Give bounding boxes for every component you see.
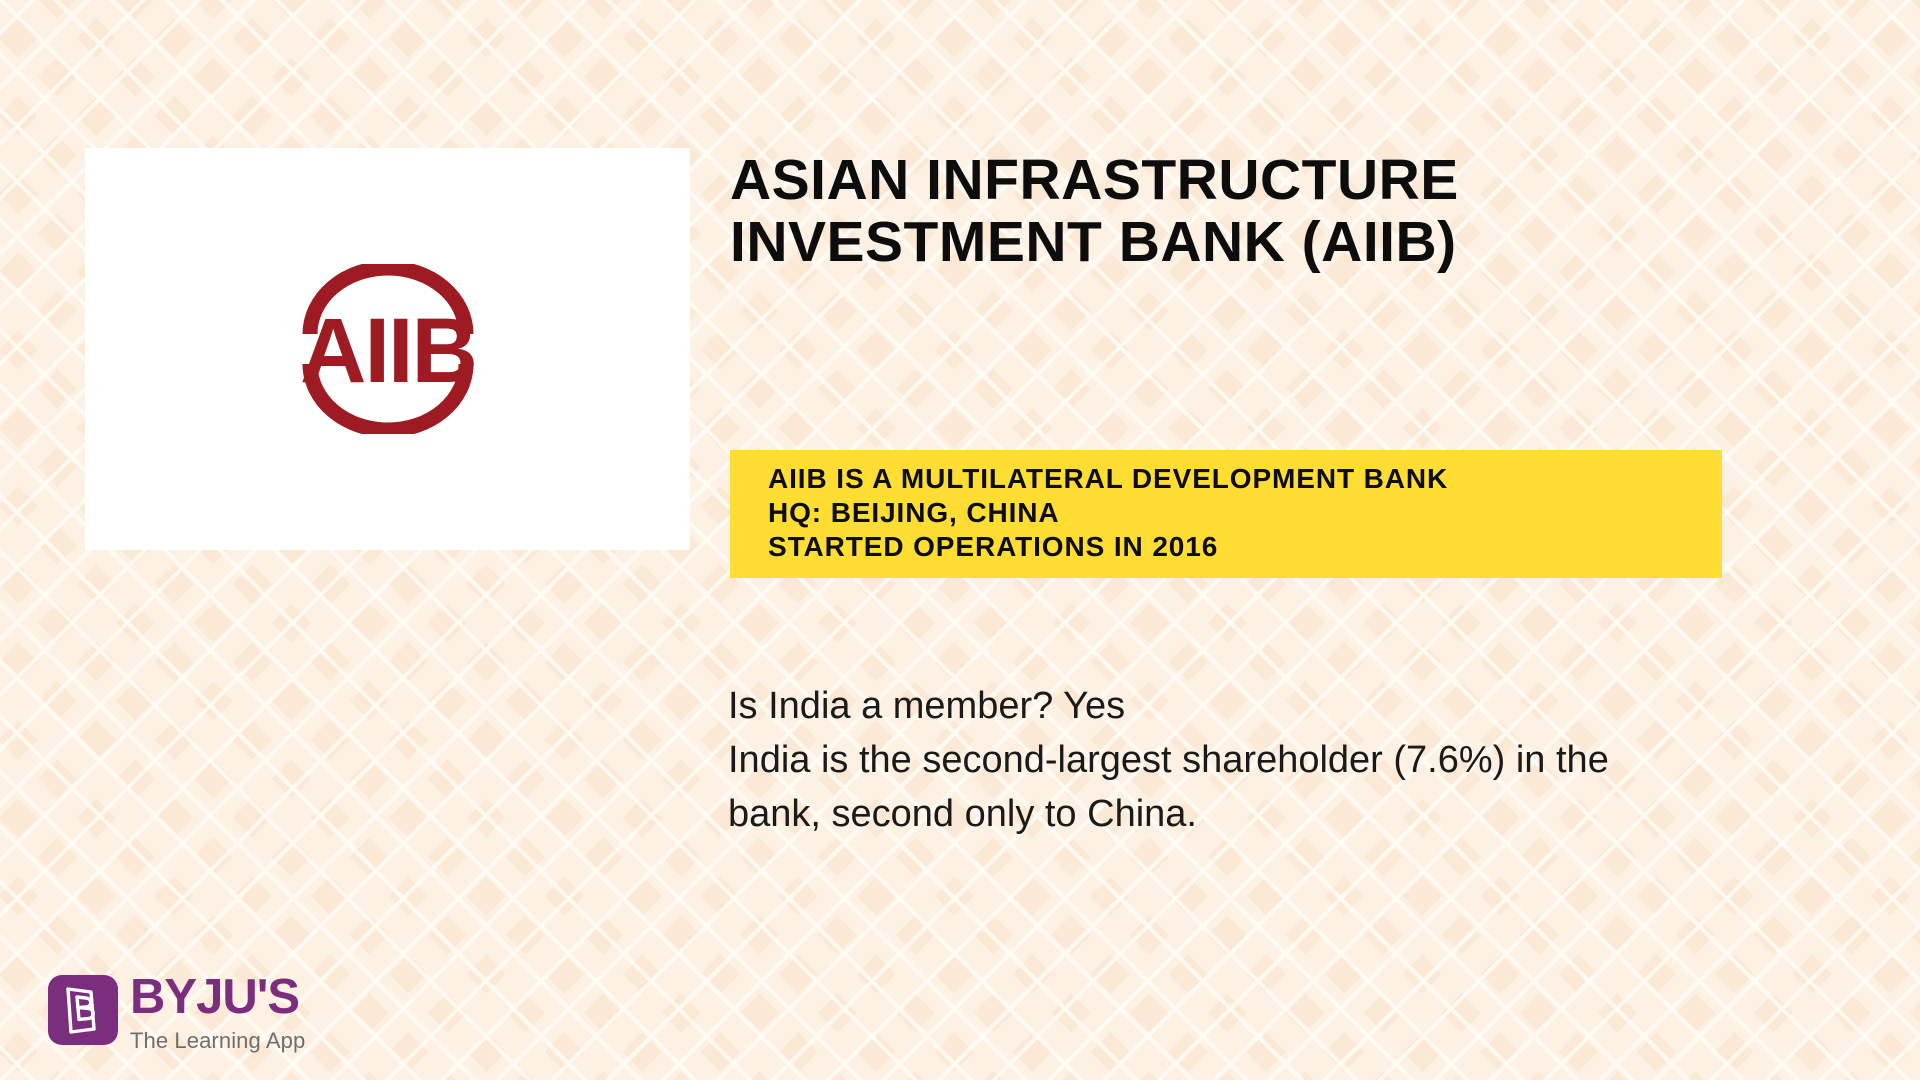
byjus-b-mark-icon xyxy=(48,975,118,1045)
slide-canvas: AIIB ASIAN INFRASTRUCTURE INVESTMENT BAN… xyxy=(0,0,1920,1080)
fact-line-2: HQ: BEIJING, CHINA xyxy=(768,496,1722,530)
fact-line-1: AIIB IS A MULTILATERAL DEVELOPMENT BANK xyxy=(768,462,1728,496)
body-paragraph-2: India is the second-largest shareholder … xyxy=(728,734,1678,842)
content-column: ASIAN INFRASTRUCTURE INVESTMENT BANK (AI… xyxy=(730,150,1740,273)
body-text: Is India a member? Yes India is the seco… xyxy=(728,680,1678,842)
aiib-logo-icon: AIIB xyxy=(258,264,518,434)
svg-text:AIIB: AIIB xyxy=(300,300,476,402)
fact-line-3: STARTED OPERATIONS IN 2016 xyxy=(768,530,1722,564)
aiib-logo-panel: AIIB xyxy=(85,148,690,550)
body-paragraph-1: Is India a member? Yes xyxy=(728,680,1678,734)
byjus-logo: BYJU'S The Learning App xyxy=(48,975,305,1052)
fact-highlight-box: AIIB IS A MULTILATERAL DEVELOPMENT BANK … xyxy=(730,450,1722,578)
byjus-wordmark: BYJU'S xyxy=(130,973,305,1022)
byjus-tagline: The Learning App xyxy=(130,1030,305,1052)
page-title: ASIAN INFRASTRUCTURE INVESTMENT BANK (AI… xyxy=(730,150,1490,273)
byjus-text-block: BYJU'S The Learning App xyxy=(130,975,305,1052)
